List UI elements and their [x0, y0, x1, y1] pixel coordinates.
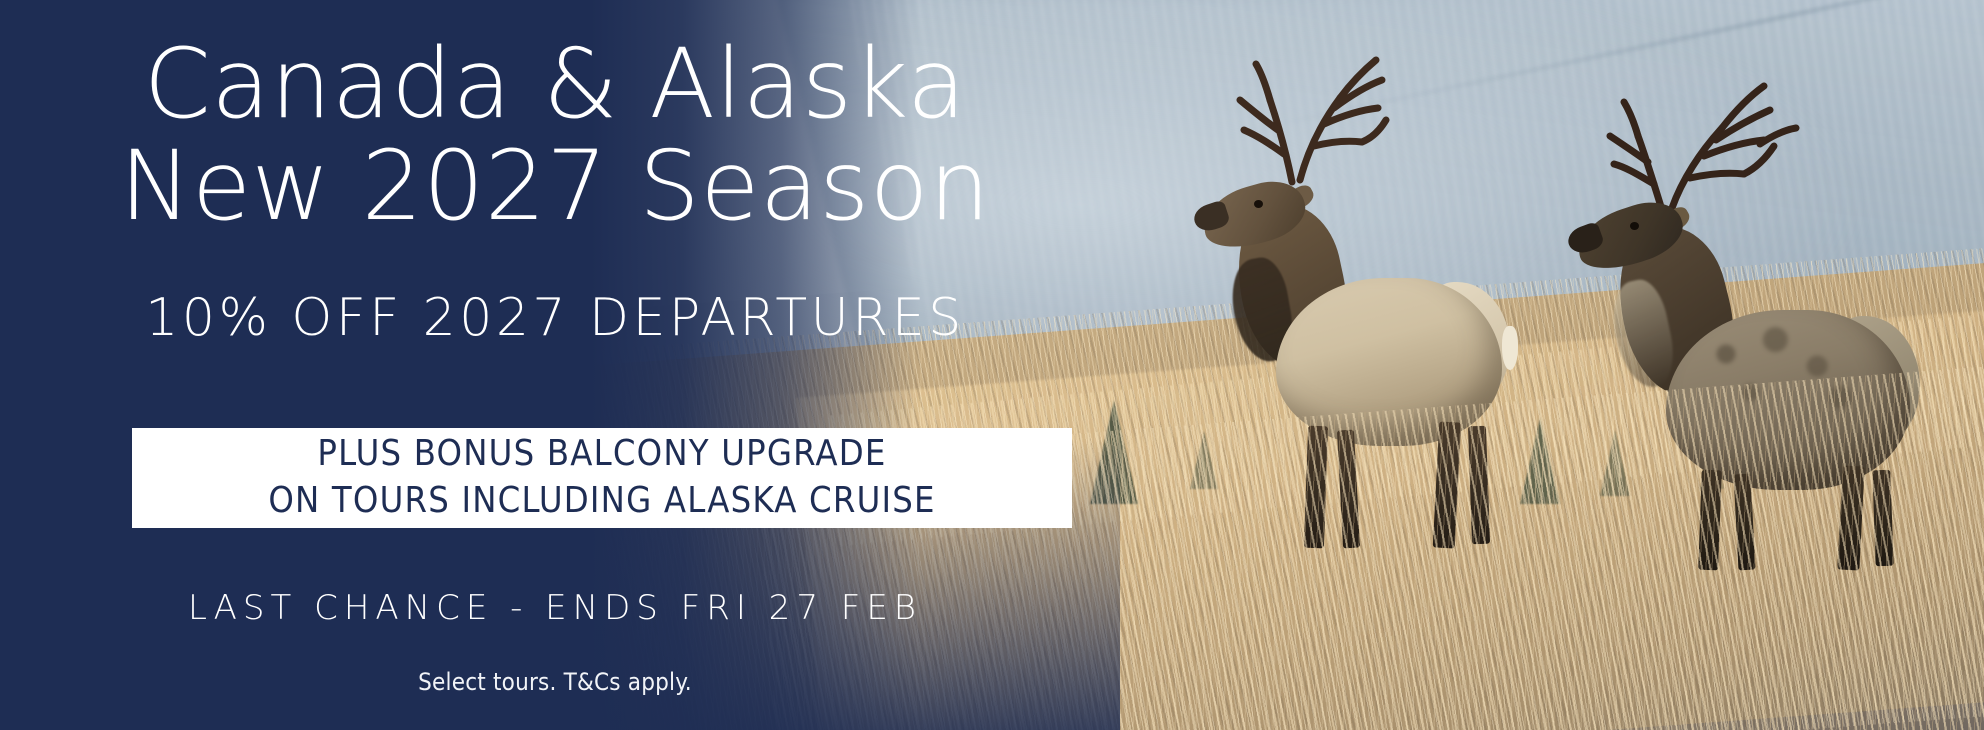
terms-text: Select tours. T&Cs apply. [0, 668, 1110, 696]
promo-banner[interactable]: Canada & Alaska New 2027 Season 10% OFF … [0, 0, 1984, 730]
offer-headline: 10% OFF 2027 DEPARTURES [0, 288, 1110, 348]
page-title: Canada & Alaska New 2027 Season [0, 34, 1110, 238]
headline-line-2: New 2027 Season [0, 136, 1110, 238]
headline-line-1: Canada & Alaska [0, 34, 1110, 136]
promo-callout-box: PLUS BONUS BALCONY UPGRADE ON TOURS INCL… [132, 428, 1072, 528]
promo-line-1: PLUS BONUS BALCONY UPGRADE [317, 431, 886, 478]
promo-line-2: ON TOURS INCLUDING ALASKA CRUISE [268, 478, 935, 525]
deadline-text: LAST CHANCE - ENDS FRI 27 FEB [0, 588, 1110, 628]
